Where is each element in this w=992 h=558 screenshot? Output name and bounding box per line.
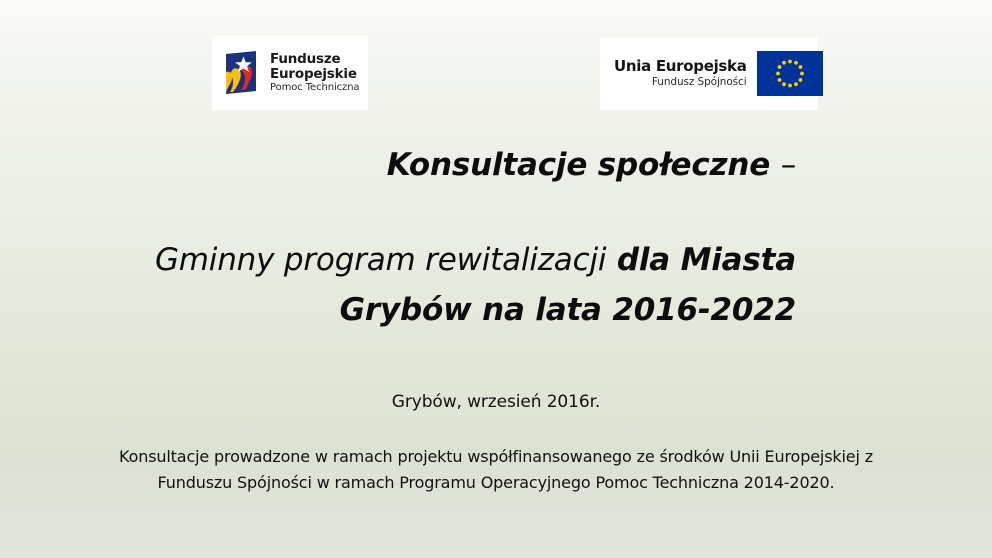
funding-disclaimer-line-2: Funduszu Spójności w ramach Programu Ope… xyxy=(46,470,946,496)
unia-europejska-wordmark: Unia Europejska Fundusz Spójności xyxy=(614,58,747,89)
fe-logo-line1: Fundusze xyxy=(270,52,359,67)
logo-fundusze-europejskie: Fundusze Europejskie Pomoc Techniczna xyxy=(212,36,368,110)
title-line-2: Gminny program rewitalizacji dla Miasta xyxy=(120,235,796,285)
logo-unia-europejska: Unia Europejska Fundusz Spójności xyxy=(600,37,818,110)
funding-disclaimer: Konsultacje prowadzone w ramach projektu… xyxy=(46,444,946,496)
fe-logo-subtitle: Pomoc Techniczna xyxy=(270,83,359,94)
ue-logo-subtitle: Fundusz Spójności xyxy=(652,77,747,89)
place-and-date: Grybów, wrzesień 2016r. xyxy=(0,392,992,412)
fundusze-europejskie-flag-mark xyxy=(220,50,262,96)
title-line-3: Grybów na lata 2016-2022 xyxy=(120,285,796,335)
title-line-2-bold: dla Miasta xyxy=(617,242,796,278)
title-line-1: Konsultacje społeczne – xyxy=(120,140,796,190)
title-line-1-dash: – xyxy=(781,147,796,183)
logo-strip: Fundusze Europejskie Pomoc Techniczna Un… xyxy=(0,0,992,130)
funding-disclaimer-line-1: Konsultacje prowadzone w ramach projektu… xyxy=(46,444,946,470)
eu-flag-icon xyxy=(757,51,823,96)
fe-logo-line2: Europejskie xyxy=(270,67,359,82)
title-line-2-light: Gminny program rewitalizacji xyxy=(155,242,606,278)
title-line-1-text: Konsultacje społeczne xyxy=(387,147,770,183)
ue-logo-title: Unia Europejska xyxy=(614,58,747,75)
slide-title-block: Konsultacje społeczne – Gminny program r… xyxy=(120,140,796,335)
fundusze-europejskie-wordmark: Fundusze Europejskie Pomoc Techniczna xyxy=(270,52,359,94)
presentation-slide: Fundusze Europejskie Pomoc Techniczna Un… xyxy=(0,0,992,558)
